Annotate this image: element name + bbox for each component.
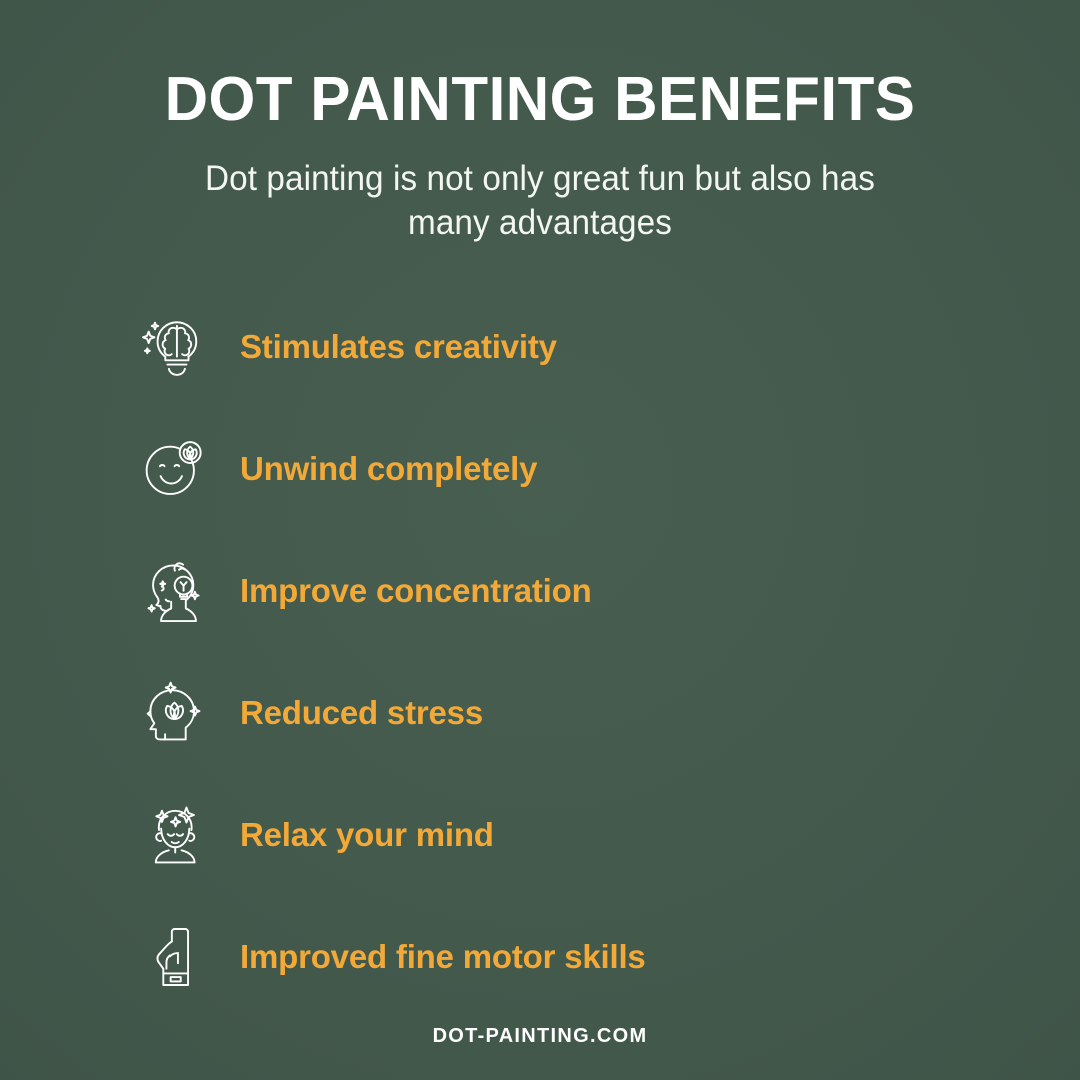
lightbulb-brain-sparkle-icon	[132, 304, 218, 390]
page-title: DOT PAINTING BENEFITS	[16, 68, 1064, 131]
benefit-item: Unwind completely	[132, 408, 1080, 530]
benefit-item: Reduced stress	[132, 652, 1080, 774]
benefit-label: Relax your mind	[240, 816, 494, 854]
benefit-label: Improve concentration	[240, 572, 592, 610]
benefit-item: Stimulates creativity	[132, 286, 1080, 408]
website-url[interactable]: DOT-PAINTING.COM	[433, 1025, 648, 1047]
smiling-face-flower-icon	[132, 426, 218, 512]
poster-header: DOT PAINTING BENEFITS Dot painting is no…	[0, 0, 1080, 244]
calm-face-stars-icon	[132, 792, 218, 878]
benefit-item: Improved fine motor skills	[132, 896, 1080, 1018]
benefit-item: Relax your mind	[132, 774, 1080, 896]
benefit-label: Stimulates creativity	[240, 328, 557, 366]
benefits-list: Stimulates creativity Unwind completely	[0, 286, 1080, 1018]
infographic-poster: DOT PAINTING BENEFITS Dot painting is no…	[0, 0, 1080, 1080]
head-profile-lightbulb-icon	[132, 548, 218, 634]
poster-footer: DOT-PAINTING.COM	[0, 1025, 1080, 1048]
benefit-label: Improved fine motor skills	[240, 938, 646, 976]
poster-subtitle: Dot painting is not only great fun but a…	[165, 157, 916, 244]
benefit-item: Improve concentration	[132, 530, 1080, 652]
head-profile-lotus-icon	[132, 670, 218, 756]
benefit-label: Unwind completely	[240, 450, 537, 488]
benefit-label: Reduced stress	[240, 694, 483, 732]
hand-holding-block-icon	[132, 914, 218, 1000]
